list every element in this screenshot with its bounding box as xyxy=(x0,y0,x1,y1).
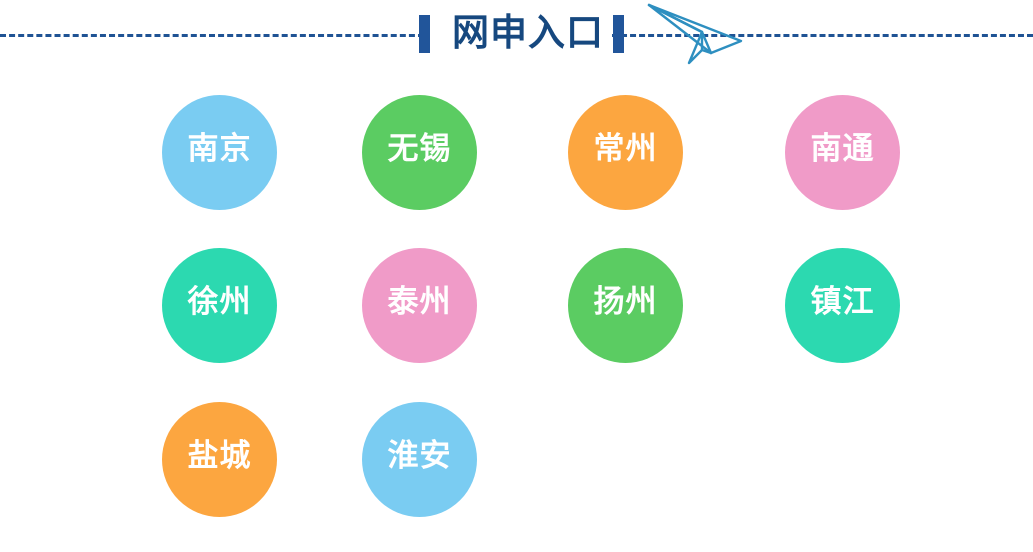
city-button-yangzhou[interactable]: 扬州 xyxy=(568,248,683,363)
city-button-taizhou[interactable]: 泰州 xyxy=(362,248,477,363)
paper-plane-icon xyxy=(645,1,745,71)
city-grid-row: 徐州 泰州 扬州 镇江 xyxy=(0,237,1033,392)
header-tick-bar-left xyxy=(419,15,430,53)
city-grid-row: 盐城 淮安 xyxy=(0,391,1033,546)
city-label: 徐州 xyxy=(188,286,252,317)
city-label: 南通 xyxy=(811,133,875,164)
header-divider-left xyxy=(0,34,424,37)
city-button-zhenjiang[interactable]: 镇江 xyxy=(785,248,900,363)
city-button-xuzhou[interactable]: 徐州 xyxy=(162,248,277,363)
city-label: 无锡 xyxy=(388,133,452,164)
page-title: 网申入口 xyxy=(448,9,608,57)
city-label: 镇江 xyxy=(811,286,875,317)
city-label: 南京 xyxy=(188,133,252,164)
header-banner: 网申入口 xyxy=(0,0,1033,72)
city-button-changzhou[interactable]: 常州 xyxy=(568,95,683,210)
city-label: 泰州 xyxy=(388,286,452,317)
city-grid: 南京 无锡 常州 南通 徐州 泰州 扬州 镇江 xyxy=(0,72,1033,552)
city-button-huaian[interactable]: 淮安 xyxy=(362,402,477,517)
header-tick-bar-right xyxy=(613,15,624,53)
city-label: 扬州 xyxy=(594,286,658,317)
city-button-wuxi[interactable]: 无锡 xyxy=(362,95,477,210)
city-button-nantong[interactable]: 南通 xyxy=(785,95,900,210)
city-label: 淮安 xyxy=(388,440,452,471)
page-root: 网申入口 南京 无锡 常州 xyxy=(0,0,1033,552)
city-label: 盐城 xyxy=(188,440,252,471)
city-button-nanjing[interactable]: 南京 xyxy=(162,95,277,210)
city-label: 常州 xyxy=(594,133,658,164)
city-button-yancheng[interactable]: 盐城 xyxy=(162,402,277,517)
city-grid-row: 南京 无锡 常州 南通 xyxy=(0,84,1033,239)
